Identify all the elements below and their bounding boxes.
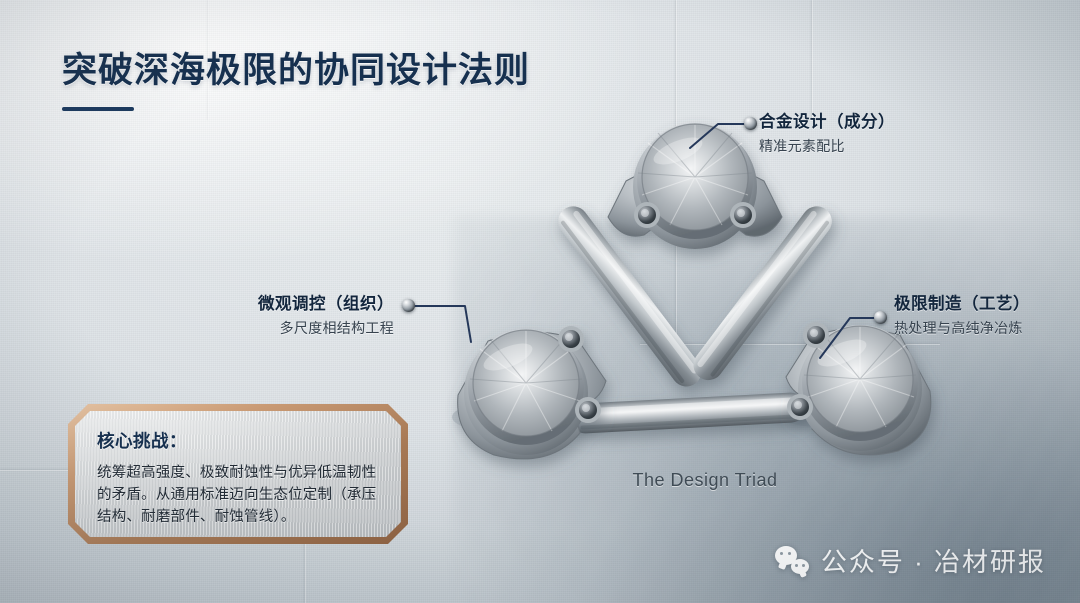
callout-title-microstructure: 微观调控（组织） xyxy=(150,290,394,314)
watermark-text: 公众号 · 冶材研报 xyxy=(821,542,1046,579)
slide-canvas: 突破深海极限的协同设计法则 xyxy=(0,0,1080,603)
callout-alloy-design: 合金设计（成分） 精准元素配比 xyxy=(759,108,895,156)
node-dot-icon-manufacturing xyxy=(874,311,887,324)
callout-extreme-manufacturing: 极限制造（工艺） 热处理与高纯净冶炼 xyxy=(894,290,1030,338)
watermark: 公众号 · 冶材研报 xyxy=(775,542,1046,579)
plaque-title: 核心挑战： xyxy=(97,428,381,453)
node-dot-icon-microstructure xyxy=(402,299,415,312)
node-dot-icon-alloy xyxy=(744,117,757,130)
callout-subtitle-microstructure: 多尺度相结构工程 xyxy=(150,318,394,338)
callout-subtitle-manufacturing: 热处理与高纯净冶炼 xyxy=(894,318,1030,338)
callout-microstructure-control: 微观调控（组织） 多尺度相结构工程 xyxy=(150,290,394,338)
plaque-inner-face: 核心挑战： 统筹超高强度、极致耐蚀性与优异低温韧性的矛盾。从通用标准迈向生态位定… xyxy=(75,411,401,537)
callout-title-alloy: 合金设计（成分） xyxy=(759,108,895,132)
page-title: 突破深海极限的协同设计法则 xyxy=(62,42,530,93)
callout-title-manufacturing: 极限制造（工艺） xyxy=(894,290,1030,314)
triad-caption: The Design Triad xyxy=(585,470,825,491)
plaque-body: 统筹超高强度、极致耐蚀性与优异低温韧性的矛盾。从通用标准迈向生态位定制（承压结构… xyxy=(97,462,381,528)
core-challenge-plaque: 核心挑战： 统筹超高强度、极致耐蚀性与优异低温韧性的矛盾。从通用标准迈向生态位定… xyxy=(68,404,408,544)
title-underline xyxy=(62,107,134,111)
callout-subtitle-alloy: 精准元素配比 xyxy=(759,136,895,156)
wechat-icon xyxy=(775,546,809,576)
